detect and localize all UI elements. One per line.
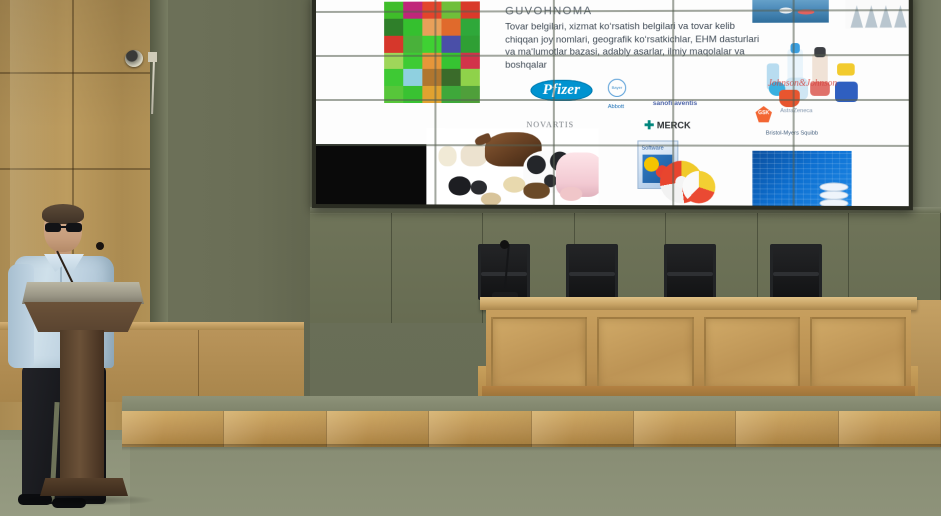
merck-cross-icon (645, 120, 654, 129)
podium-column (60, 330, 104, 480)
stage-step-front (122, 411, 941, 447)
wall-panel (300, 213, 392, 323)
software-box-label: Software (642, 146, 664, 152)
rabbit-shape (481, 193, 501, 206)
speaker-podium (22, 282, 144, 502)
presentation-slide: GUVOHNOMA Tovar belgilari, xizmat ko‘rsa… (316, 0, 909, 206)
step-panel (839, 411, 941, 447)
chair[interactable] (664, 244, 716, 300)
cd-disc (682, 171, 715, 204)
slide-body-text: Tovar belgilari, xizmat ko‘rsatish belgi… (505, 20, 760, 71)
video-wall-bezel (316, 99, 909, 101)
slide-text-block: GUVOHNOMA Tovar belgilari, xizmat ko‘rsa… (505, 5, 760, 72)
security-camera-icon (125, 50, 143, 67)
johnson-and-johnson-logo: Johnson&Johnson (768, 78, 837, 88)
software-box-image: Software (637, 140, 711, 203)
table-panel (810, 317, 906, 389)
chicken-shape (449, 176, 471, 195)
step-panel (634, 411, 736, 447)
pfizer-logo: Pfizer (530, 80, 592, 101)
led-video-wall[interactable]: GUVOHNOMA Tovar belgilari, xizmat ko‘rsa… (312, 0, 913, 210)
step-panel (429, 411, 531, 447)
microphone-head-icon (96, 242, 104, 250)
database-screen-image (752, 151, 851, 210)
step-panel (224, 411, 326, 447)
lamb-shape (438, 146, 456, 166)
step-panel (532, 411, 634, 447)
gsk-logo: GSK (755, 106, 771, 122)
speaker-hair (42, 204, 84, 224)
sunglasses-icon (45, 223, 82, 232)
microphone-head-icon (500, 240, 509, 249)
bayer-logo: Bayer (608, 79, 626, 97)
microphone-gooseneck (504, 244, 510, 288)
database-cylinder-icon (819, 182, 846, 207)
abbott-logo: Abbott (608, 104, 624, 110)
stage-step-shadow (122, 444, 941, 451)
video-wall-black-tile (316, 144, 434, 210)
chair[interactable] (566, 244, 618, 300)
swimming-photo (752, 0, 828, 23)
sanofi-aventis-logo: sanofi aventis (653, 100, 697, 107)
step-panel (736, 411, 838, 447)
video-wall-bezel (672, 0, 674, 205)
podium-top-surface (22, 282, 144, 304)
dog-shape (523, 183, 549, 199)
farm-animals-image (426, 128, 598, 210)
step-panel (327, 411, 429, 447)
chicken-shape (471, 180, 487, 194)
laboratory-glassware-photo (845, 0, 913, 29)
video-wall-bezel (793, 0, 795, 206)
wood-seam (198, 330, 199, 402)
table-panel (597, 317, 693, 389)
merck-logo: MERCK (645, 120, 691, 130)
pig-shape (560, 187, 582, 201)
astrazeneca-logo: AstraZeneca (780, 108, 812, 114)
camera-mount-box (148, 52, 157, 62)
table-microphone[interactable] (498, 240, 512, 300)
presidium-table-top (480, 297, 917, 310)
conference-hall-scene: GUVOHNOMA Tovar belgilari, xizmat ko‘rsa… (0, 0, 941, 516)
merck-logo-text: MERCK (657, 120, 691, 130)
video-wall-bezel (553, 0, 555, 205)
presidium-table-front (486, 310, 911, 398)
fruit-vegetable-grid-image (384, 1, 480, 103)
podium-floor-shadow (16, 494, 156, 506)
podium-slant-front (24, 302, 142, 332)
video-wall-bezel (434, 0, 436, 204)
gsk-logo-text: GSK (755, 106, 771, 120)
chair[interactable] (770, 244, 822, 300)
goat-shape (461, 144, 487, 166)
table-panel (491, 317, 587, 389)
duck-shape (503, 177, 525, 193)
table-panel (704, 317, 800, 389)
